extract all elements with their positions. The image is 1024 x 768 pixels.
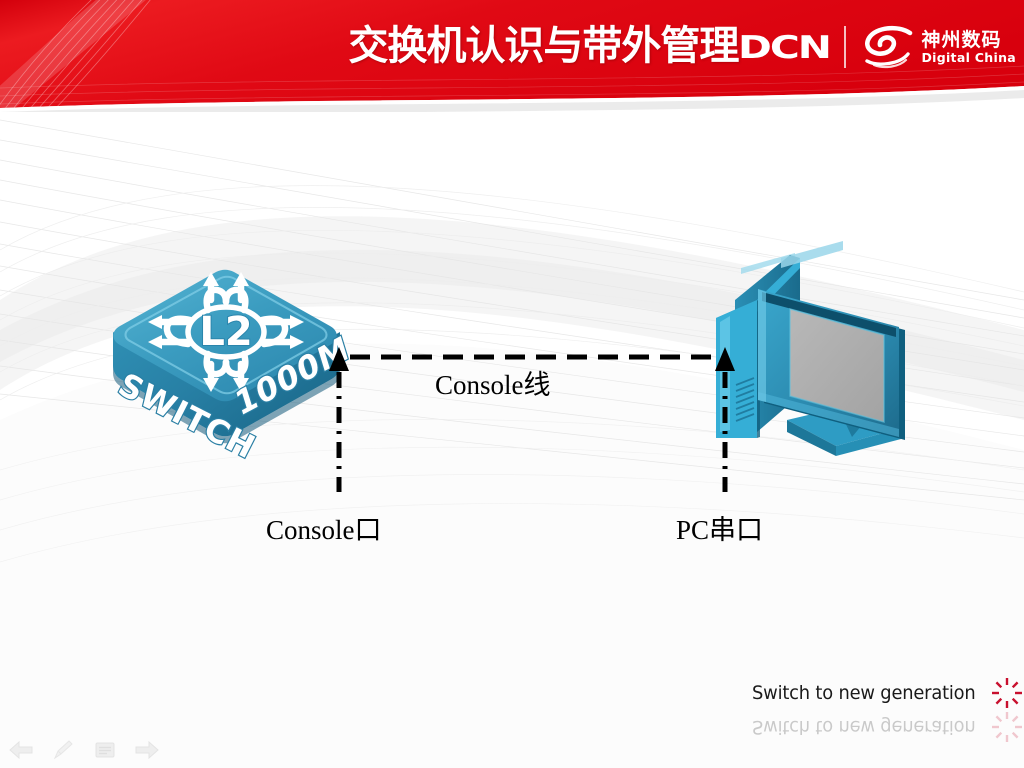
tagline-text: Switch to new generation	[752, 682, 976, 704]
tagline: Switch to new generation Switch to new g…	[752, 676, 1024, 752]
switch-device: L2 SWITCH 1000M	[112, 270, 357, 467]
pc-serial-port-label: PC串口	[676, 508, 763, 547]
switch-layer-label: L2	[199, 309, 252, 355]
slideshow-toolbar[interactable]	[8, 738, 160, 762]
console-port-label-text: Console口	[266, 515, 382, 545]
pen-icon	[52, 740, 74, 760]
arrow-left-icon	[9, 740, 33, 760]
console-port-label: Console口	[266, 508, 382, 547]
pc-serial-port-label-text: PC串口	[676, 515, 763, 545]
tagline-reflection: Switch to new generation	[752, 710, 1024, 744]
next-slide-button[interactable]	[134, 738, 160, 762]
presentation-slide: 交换机认识与带外管理 DCN 神州数码 Digital China	[0, 0, 1024, 768]
notes-icon	[94, 740, 116, 760]
pc-device	[716, 241, 905, 456]
console-cable-label-text: Console线	[435, 370, 551, 400]
arrow-right-icon	[135, 740, 159, 760]
previous-slide-button[interactable]	[8, 738, 34, 762]
tagline-main: Switch to new generation	[752, 676, 1024, 710]
sparkle-burst-icon	[990, 676, 1024, 710]
console-cable-label: Console线	[435, 363, 551, 402]
sparkle-burst-reflection-icon	[990, 710, 1024, 744]
pen-tool-button[interactable]	[50, 738, 76, 762]
notes-button[interactable]	[92, 738, 118, 762]
tagline-reflection-text: Switch to new generation	[752, 716, 976, 738]
